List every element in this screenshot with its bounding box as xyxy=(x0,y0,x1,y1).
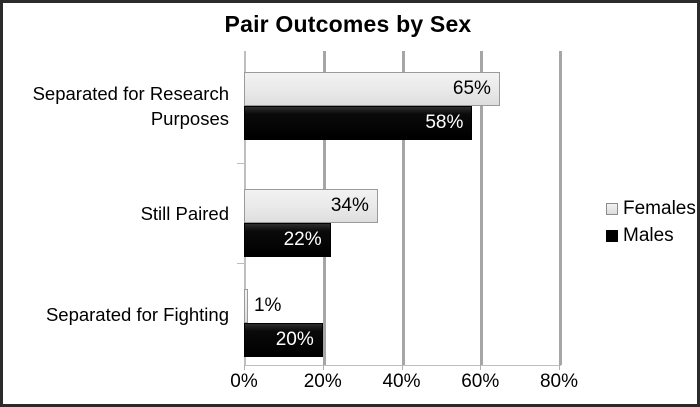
legend-swatch-females-icon xyxy=(606,203,618,215)
legend-item-males[interactable]: Males xyxy=(606,222,696,249)
bar-females-2[interactable] xyxy=(244,289,248,323)
legend-label-males: Males xyxy=(623,225,674,247)
axis-tick-label-0: 0% xyxy=(209,371,279,393)
value-axis-baseline xyxy=(244,365,561,366)
axis-tick-0 xyxy=(244,365,245,370)
category-label-line: Separated for Research xyxy=(0,81,229,106)
bar-value-label-females-0: 65% xyxy=(244,72,491,106)
chart-title: Pair Outcomes by Sex xyxy=(3,11,693,38)
chart-container: Pair Outcomes by Sex 0%20%40%60%80%65%58… xyxy=(0,0,700,407)
axis-tick-label-20: 20% xyxy=(288,371,358,393)
axis-tick-label-80: 80% xyxy=(524,371,594,393)
category-label-1: Still Paired xyxy=(0,201,229,226)
category-label-line: Separated for Fighting xyxy=(0,302,229,327)
axis-tick-40 xyxy=(402,365,403,370)
bar-value-label-females-2: 1% xyxy=(254,289,281,323)
category-label-2: Separated for Fighting xyxy=(0,302,229,327)
category-separator-1 xyxy=(237,263,244,264)
category-label-line: Purposes xyxy=(0,106,229,131)
category-separator-0 xyxy=(237,163,244,164)
bar-value-label-males-0: 58% xyxy=(244,106,463,140)
legend-label-females: Females xyxy=(623,198,696,220)
legend-swatch-males-icon xyxy=(606,230,618,242)
category-label-0: Separated for ResearchPurposes xyxy=(0,81,229,131)
legend-item-females[interactable]: Females xyxy=(606,195,696,222)
bar-value-label-males-1: 22% xyxy=(244,223,322,257)
axis-tick-20 xyxy=(323,365,324,370)
category-label-line: Still Paired xyxy=(0,201,229,226)
axis-tick-label-40: 40% xyxy=(367,371,437,393)
axis-tick-label-60: 60% xyxy=(445,371,515,393)
bar-value-label-females-1: 34% xyxy=(244,189,369,223)
axis-tick-60 xyxy=(480,365,481,370)
chart-legend: Females Males xyxy=(606,195,696,249)
bar-value-label-males-2: 20% xyxy=(244,323,314,357)
gridline-80 xyxy=(559,51,562,365)
axis-tick-80 xyxy=(559,365,560,370)
